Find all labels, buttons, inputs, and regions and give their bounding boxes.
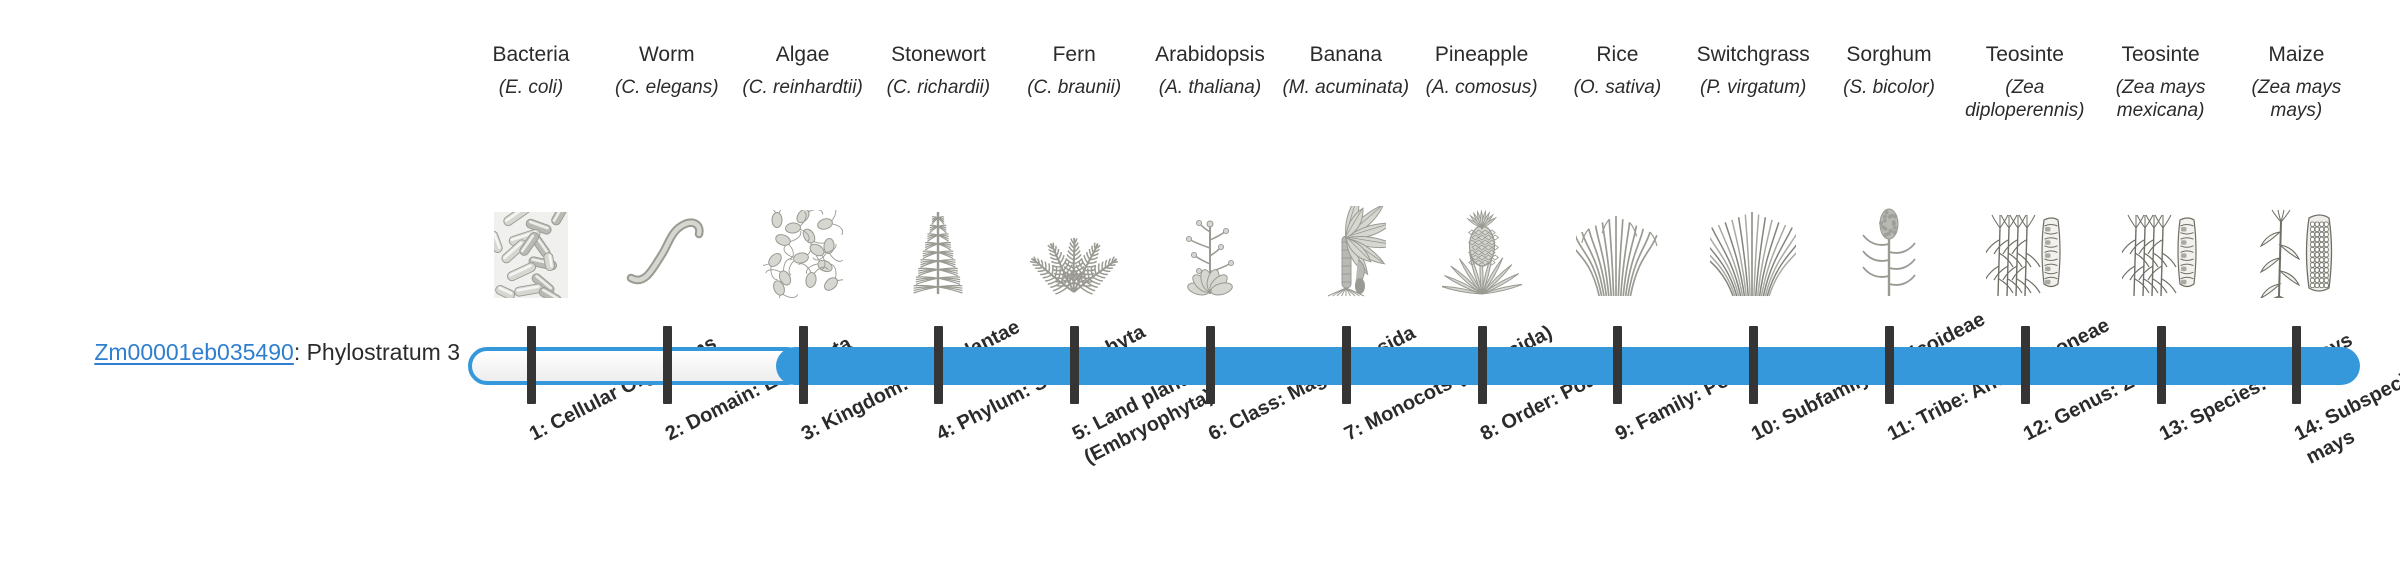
phylostratum-tick-9 [1613, 326, 1622, 404]
species-common-name: Maize [2228, 42, 2364, 67]
phylostratum-tick-14 [2292, 326, 2301, 404]
phylostratum-column-3[interactable]: Algae(C. reinhardtii)3: Kingdom: Viridip… [735, 0, 871, 580]
species-scientific-name: (Zea mays mexicana) [2095, 76, 2227, 122]
phylostratum-figure: Zm00001eb035490: Phylostratum 3 Bacteria… [0, 0, 2400, 580]
phylostratum-column-6[interactable]: Arabidopsis(A. thaliana)6: Class: Magnol… [1142, 0, 1278, 580]
phylostratum-column-13[interactable]: Teosinte(Zea mays mexicana)13: Species: … [2093, 0, 2229, 580]
phylostratum-column-8[interactable]: Pineapple(A. comosus)8: Order: Poales [1414, 0, 1550, 580]
species-scientific-name: (E. coli) [465, 76, 597, 99]
phylostratum-tick-8 [1478, 326, 1487, 404]
green-algae-cells-icon [735, 168, 871, 298]
phylostratum-column-2[interactable]: Worm(C. elegans)2: Domain: Eukaryota [599, 0, 735, 580]
phylostratum-tick-4 [934, 326, 943, 404]
species-scientific-name: (S. bicolor) [1823, 76, 1955, 99]
banana-plant-icon [1278, 168, 1414, 298]
species-scientific-name: (A. comosus) [1416, 76, 1548, 99]
rice-grass-icon [1549, 168, 1685, 298]
species-common-name: Pineapple [1414, 42, 1550, 67]
sorghum-panicle-icon [1821, 168, 1957, 298]
phylostratum-tick-2 [663, 326, 672, 404]
species-common-name: Bacteria [463, 42, 599, 67]
pineapple-plant-icon [1414, 168, 1550, 298]
arabidopsis-rosette-icon [1142, 168, 1278, 298]
phylostratum-bar[interactable] [468, 347, 2360, 385]
nematode-worm-icon [599, 168, 735, 298]
phylostratum-tick-7 [1342, 326, 1351, 404]
species-common-name: Algae [735, 42, 871, 67]
phylostratum-tick-5 [1070, 326, 1079, 404]
maize-plant-and-cob-icon [2228, 168, 2364, 298]
phylostratum-column-12[interactable]: Teosinte(Zea diploperennis)12: Genus: Ze… [1957, 0, 2093, 580]
phylostratum-tick-1 [527, 326, 536, 404]
species-common-name: Stonewort [870, 42, 1006, 67]
phylostratum-column-14[interactable]: Maize(Zea mays mays)14: Subspecies: Zea … [2228, 0, 2364, 580]
phylostratum-column-11[interactable]: Sorghum(S. bicolor)11: Tribe: Andropogon… [1821, 0, 1957, 580]
phylostratum-column-4[interactable]: Stonewort(C. richardii)4: Phylum: Strept… [870, 0, 1006, 580]
phylostratum-tick-12 [2021, 326, 2030, 404]
species-scientific-name: (Zea diploperennis) [1959, 76, 2091, 122]
switchgrass-icon [1685, 168, 1821, 298]
species-common-name: Rice [1549, 42, 1685, 67]
phylostratum-column-10[interactable]: Switchgrass(P. virgatum)10: Subfamily: P… [1685, 0, 1821, 580]
phylostratum-column-1[interactable]: Bacteria(E. coli)1: Cellular Organisms [463, 0, 599, 580]
species-common-name: Sorghum [1821, 42, 1957, 67]
phylostratum-tick-6 [1206, 326, 1215, 404]
species-scientific-name: (C. reinhardtii) [737, 76, 869, 99]
species-common-name: Banana [1278, 42, 1414, 67]
teosinte-plant-and-ear-icon [1957, 168, 2093, 298]
species-common-name: Worm [599, 42, 735, 67]
phylostratum-tick-3 [799, 326, 808, 404]
species-scientific-name: (P. virgatum) [1687, 76, 1819, 99]
phylostratum-column-7[interactable]: Banana(M. acuminata)7: Monocots (Liliops… [1278, 0, 1414, 580]
species-scientific-name: (O. sativa) [1551, 76, 1683, 99]
phylostratum-column-5[interactable]: Fern(C. braunii)5: Land plants (Embryoph… [1006, 0, 1142, 580]
species-common-name: Teosinte [1957, 42, 2093, 67]
species-scientific-name: (C. braunii) [1008, 76, 1140, 99]
fern-frond-icon [1006, 168, 1142, 298]
stonewort-alga-icon [870, 168, 1006, 298]
phylostratum-columns: Bacteria(E. coli)1: Cellular OrganismsWo… [0, 0, 2400, 580]
species-scientific-name: (C. richardii) [872, 76, 1004, 99]
phylostratum-bar-filled-range [776, 347, 2360, 385]
species-common-name: Teosinte [2093, 42, 2229, 67]
teosinte-plant-and-ear-icon [2093, 168, 2229, 298]
phylostratum-bar-empty-track [468, 347, 806, 385]
phylostratum-tick-10 [1749, 326, 1758, 404]
phylostratum-column-9[interactable]: Rice(O. sativa)9: Family: Poaceae [1549, 0, 1685, 580]
species-common-name: Fern [1006, 42, 1142, 67]
phylostratum-tick-13 [2157, 326, 2166, 404]
species-common-name: Arabidopsis [1142, 42, 1278, 67]
species-scientific-name: (Zea mays mays) [2230, 76, 2362, 122]
species-common-name: Switchgrass [1685, 42, 1821, 67]
phylostratum-tick-11 [1885, 326, 1894, 404]
species-scientific-name: (A. thaliana) [1144, 76, 1276, 99]
bacteria-rods-icon [463, 168, 599, 298]
species-scientific-name: (C. elegans) [601, 76, 733, 99]
species-scientific-name: (M. acuminata) [1280, 76, 1412, 99]
